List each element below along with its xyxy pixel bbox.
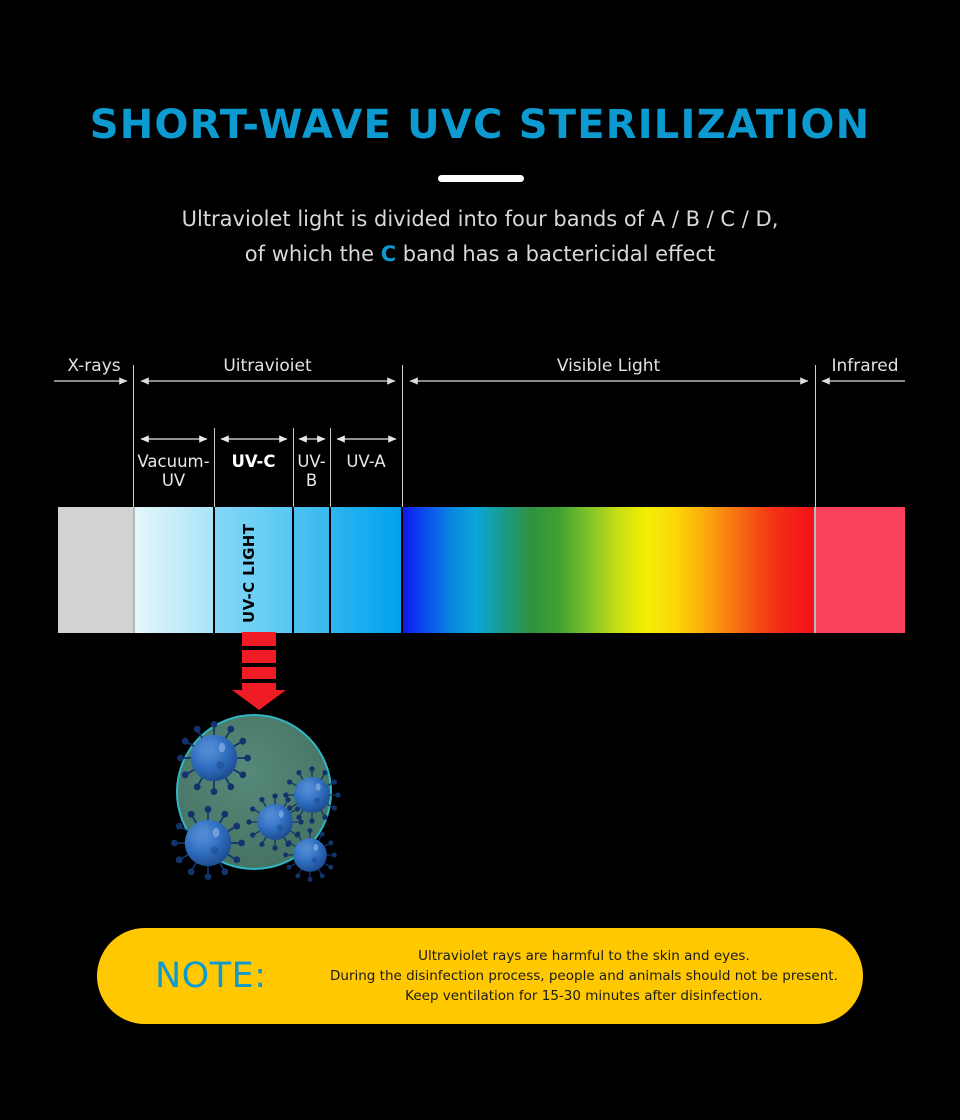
sub-band-label-uv-b: UV-B xyxy=(293,452,330,490)
sub-band-label-uv-a: UV-A xyxy=(330,452,402,471)
subtitle-highlight-c: C xyxy=(381,242,396,266)
bar-divider-xray-uv xyxy=(133,507,135,633)
subtitle-line-2: of which the C band has a bactericidal e… xyxy=(0,237,960,272)
subtitle-line-2-after: band has a bactericidal effect xyxy=(396,242,715,266)
uv-c-light-bar-label: UV-C LIGHT xyxy=(240,518,260,628)
note-box: NOTE: Ultraviolet rays are harmful to th… xyxy=(97,928,863,1024)
page-title: SHORT-WAVE UVC STERILIZATION xyxy=(0,102,960,148)
bar-segment-xray xyxy=(58,507,134,633)
bar-divider-vacuum-uvc xyxy=(213,507,215,633)
page-subtitle: Ultraviolet light is divided into four b… xyxy=(0,202,960,272)
bar-segment-uv-b xyxy=(293,507,330,633)
bar-segment-uv-a xyxy=(330,507,402,633)
title-divider xyxy=(438,175,524,182)
bar-segment-visible xyxy=(402,507,815,633)
subtitle-line-2-before: of which the xyxy=(245,242,381,266)
bar-divider-uva-visible xyxy=(401,507,403,633)
bar-segment-vacuum-uv xyxy=(134,507,214,633)
bar-divider-uvc-uvb xyxy=(292,507,294,633)
bar-divider-uvb-uva xyxy=(329,507,331,633)
virus-cluster-illustration xyxy=(160,700,370,890)
note-label: NOTE: xyxy=(155,956,330,996)
sub-band-label-vacuum-uv: Vacuum-UV xyxy=(133,452,214,490)
sub-band-label-uv-c: UV-C xyxy=(214,452,293,471)
note-line-2: During the disinfection process, people … xyxy=(330,966,838,986)
note-line-1: Ultraviolet rays are harmful to the skin… xyxy=(330,946,838,966)
note-line-3: Keep ventilation for 15-30 minutes after… xyxy=(330,986,838,1006)
uv-c-beam-arrow-icon xyxy=(228,632,290,710)
bar-divider-visible-ir xyxy=(814,507,816,633)
subtitle-line-1: Ultraviolet light is divided into four b… xyxy=(0,202,960,237)
bar-segment-infrared xyxy=(815,507,905,633)
spectrum-color-bar xyxy=(58,507,905,633)
note-text: Ultraviolet rays are harmful to the skin… xyxy=(330,946,886,1006)
